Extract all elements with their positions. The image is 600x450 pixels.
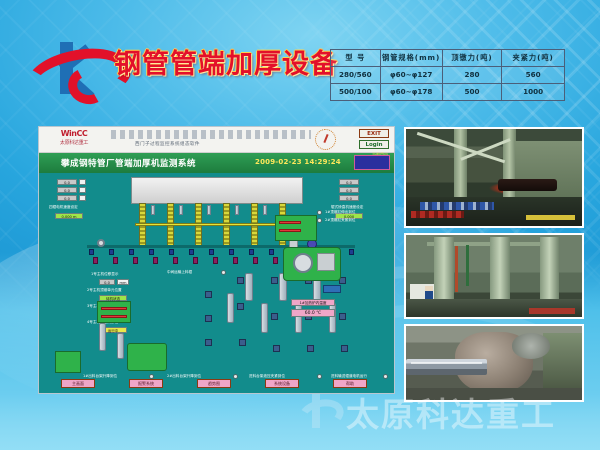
hmi-readout: 0.0 xyxy=(57,195,77,201)
hmi-readout: 0.0 xyxy=(57,179,77,185)
hmi-temp-value: 60.0 ℃ xyxy=(291,309,335,317)
table-col-pipe-size: 钢管规格(mm) xyxy=(380,50,442,67)
cell-model: 280/560 xyxy=(331,66,381,83)
hmi-roller xyxy=(129,249,134,255)
hmi-annot-right-2: 2#顶镦缸夹紧到位 xyxy=(325,219,355,223)
hmi-drive-unit xyxy=(193,257,198,264)
cell-pipe-size: φ60~φ178 xyxy=(380,83,442,100)
wincc-brand-text: WinCC xyxy=(45,129,103,138)
hmi-system-title: 攀成钢特管厂管端加厚机监测系统 xyxy=(61,157,196,169)
photo-rolling-mill xyxy=(404,127,584,228)
hmi-valve xyxy=(237,303,244,310)
hmi-pressure-bar xyxy=(101,315,127,318)
press-red-equipment xyxy=(529,308,575,314)
hmi-toolbar: WinCC 太原科达重工 西门子过程监控系统组态软件 EXIT Login xyxy=(39,127,394,153)
hmi-drive-unit xyxy=(153,257,158,264)
cell-pipe-size: φ60~φ127 xyxy=(380,66,442,83)
hmi-title-bar: 攀成钢特管厂管端加厚机监测系统 2009-02-23 14:29:24 当前用户 xyxy=(39,153,394,173)
hmi-roller xyxy=(109,249,114,255)
hmi-readout: 0.0 xyxy=(99,279,115,285)
press-column-1 xyxy=(434,237,453,299)
table-col-model: 型 号 xyxy=(331,50,381,67)
hmi-cylinder xyxy=(261,303,268,333)
hmi-roller xyxy=(149,249,154,255)
hmi-roller xyxy=(349,249,354,255)
hmi-pump-unit xyxy=(55,351,81,373)
mill-frame-left xyxy=(454,129,467,201)
hmi-cylinder xyxy=(151,205,155,215)
hmi-readout: 0.0 xyxy=(339,195,359,201)
hmi-valve xyxy=(239,339,246,346)
hmi-cylinder xyxy=(245,273,253,301)
hmi-induction-coil-icon xyxy=(293,253,313,273)
hmi-valve xyxy=(271,277,278,284)
hmi-actuator xyxy=(323,285,341,293)
cell-upset-force: 280 xyxy=(442,66,502,83)
mill-blue-equipment xyxy=(420,202,494,211)
hmi-hydraulic-unit xyxy=(97,301,131,323)
hmi-btn-main[interactable]: 主画面 xyxy=(61,379,95,388)
hmi-drive-unit xyxy=(233,257,238,264)
watermark-text: 太原科达重工 xyxy=(346,388,556,436)
photo-press-hall-image xyxy=(406,235,582,317)
exit-button[interactable]: EXIT xyxy=(359,129,389,138)
watermark: 太原科达重工 xyxy=(296,386,596,438)
hmi-cylinder xyxy=(329,303,336,333)
hmi-roller xyxy=(89,249,94,255)
hmi-datetime: 2009-02-23 14:29:24 xyxy=(255,158,341,166)
hmi-drive-unit xyxy=(213,257,218,264)
photo-rolling-mill-image xyxy=(406,129,582,226)
toolbar-icon-strip[interactable] xyxy=(111,130,311,139)
hmi-roller xyxy=(249,249,254,255)
hmi-pressure-bar xyxy=(279,229,301,232)
closeup-ring xyxy=(512,333,551,358)
hmi-drive-unit xyxy=(173,257,178,264)
cell-model: 500/100 xyxy=(331,83,381,100)
table-row: 500/100 φ60~φ178 500 1000 xyxy=(331,83,565,100)
press-column-3 xyxy=(540,237,559,299)
hmi-unit xyxy=(79,179,86,185)
hmi-screenshot-panel: WinCC 太原科达重工 西门子过程监控系统组态软件 EXIT Login 攀成… xyxy=(38,126,395,394)
clock-gauge-icon xyxy=(315,129,336,150)
kedo-logo-icon xyxy=(34,38,126,98)
press-pipe-green xyxy=(466,245,469,286)
hmi-pressure-bar xyxy=(279,221,301,224)
hmi-readout: 0.0 xyxy=(57,187,77,193)
hmi-cylinder xyxy=(207,205,211,215)
hmi-roller xyxy=(189,249,194,255)
hmi-readout: 0.0 xyxy=(339,187,359,193)
spec-table: 型 号 钢管规格(mm) 顶镦力(吨) 夹紧力(吨) 280/560 φ60~φ… xyxy=(330,49,565,101)
wincc-brand-sub: 太原科达重工 xyxy=(45,139,103,146)
hmi-pressure-bar xyxy=(101,307,127,310)
hmi-clamp-unit xyxy=(275,215,317,241)
hmi-gearbox-unit xyxy=(127,343,167,371)
hmi-cylinder xyxy=(295,303,302,333)
table-col-clamp-force: 夹紧力(吨) xyxy=(502,50,565,67)
hmi-user-field[interactable] xyxy=(354,155,390,170)
hmi-unit xyxy=(79,195,86,201)
hmi-readout: 0.0 xyxy=(339,179,359,185)
hmi-valve xyxy=(273,345,280,352)
hot-pipe xyxy=(498,179,558,191)
hmi-btn-devices[interactable]: 系统设备 xyxy=(265,379,299,388)
hmi-roller xyxy=(169,249,174,255)
wincc-logo: WinCC 太原科达重工 xyxy=(45,129,103,146)
press-column-2 xyxy=(490,237,509,299)
hmi-drive-unit xyxy=(113,257,118,264)
hmi-wheel-icon xyxy=(97,239,105,247)
cell-upset-force: 500 xyxy=(442,83,502,100)
hmi-lamp xyxy=(221,270,226,275)
hmi-cylinder xyxy=(235,205,239,215)
hmi-left-value: 0.000 m xyxy=(55,213,83,219)
hmi-drive-unit xyxy=(133,257,138,264)
hmi-drive-unit xyxy=(273,257,278,264)
hmi-valve xyxy=(205,339,212,346)
hmi-label-upender-2: 2号主机顶镦单元位置 xyxy=(87,289,122,293)
cell-clamp-force: 1000 xyxy=(502,83,565,100)
cell-clamp-force: 560 xyxy=(502,66,565,83)
hmi-cylinder xyxy=(227,293,234,323)
hmi-valve xyxy=(205,291,212,298)
closeup-pipe-highlight xyxy=(411,362,481,365)
watermark-logo-swoosh xyxy=(295,395,347,435)
hmi-temp-label: 1#加热炉内温度 xyxy=(291,299,335,306)
hmi-roller xyxy=(269,249,274,255)
hmi-valve xyxy=(237,277,244,284)
hmi-cylinder xyxy=(263,205,267,215)
hmi-lamp xyxy=(317,210,322,215)
press-pipe-red xyxy=(455,246,458,291)
hmi-roller xyxy=(229,249,234,255)
hmi-label-upender-1: 1号主机位移显示 xyxy=(91,273,118,277)
table-row: 280/560 φ60~φ127 280 560 xyxy=(331,66,565,83)
toolbar-hint-text: 西门子过程监控系统组态软件 xyxy=(135,141,200,147)
hmi-cylinder xyxy=(179,205,183,215)
mill-machine-body xyxy=(515,141,582,201)
table-header-row: 型 号 钢管规格(mm) 顶镦力(吨) 夹紧力(吨) xyxy=(331,50,565,67)
hmi-label-center-conveyor: 中间运输上料辊 xyxy=(167,271,192,275)
hmi-drive-unit xyxy=(253,257,258,264)
photo-press-hall xyxy=(404,233,584,319)
poster-header: 钢管管端加厚设备 xyxy=(28,34,328,100)
hmi-valve xyxy=(271,313,278,320)
page-title: 钢管管端加厚设备 xyxy=(114,42,338,81)
hmi-valve xyxy=(307,345,314,352)
hmi-valve xyxy=(339,313,346,320)
kedo-watermark-logo-icon xyxy=(300,392,342,432)
hmi-press-crossbeam xyxy=(131,177,303,204)
hmi-annot-right-1: 1#顶镦缸伸出到位 xyxy=(325,211,355,215)
hmi-roller xyxy=(209,249,214,255)
table-col-upset-force: 顶镦力(吨) xyxy=(442,50,502,67)
hmi-valve xyxy=(205,315,212,322)
hmi-btn-alarms[interactable]: 报警系统 xyxy=(129,379,163,388)
hmi-drive-unit xyxy=(93,257,98,264)
hmi-valve xyxy=(341,345,348,352)
hmi-unit: mm xyxy=(117,279,129,285)
poster-canvas: 钢管管端加厚设备 型 号 钢管规格(mm) 顶镦力(吨) 夹紧力(吨) 280/… xyxy=(0,0,600,450)
hmi-cylinder xyxy=(117,333,124,359)
hmi-panel xyxy=(317,253,335,271)
mill-red-equipment xyxy=(411,211,464,218)
hmi-mimic-diagram: 0.0 0.0 0.0 四辊电机速度设定 0.000 m 0.0 0.0 0.0… xyxy=(39,173,394,394)
hmi-unit xyxy=(79,187,86,193)
login-button[interactable]: Login xyxy=(359,140,389,149)
hmi-lamp xyxy=(317,218,322,223)
hmi-btn-trends[interactable]: 趋势图 xyxy=(197,379,231,388)
mill-yellow-rail xyxy=(526,215,575,220)
hmi-left-group-title: 四辊电机速度设定 xyxy=(49,206,78,210)
hmi-cylinder xyxy=(99,323,106,351)
